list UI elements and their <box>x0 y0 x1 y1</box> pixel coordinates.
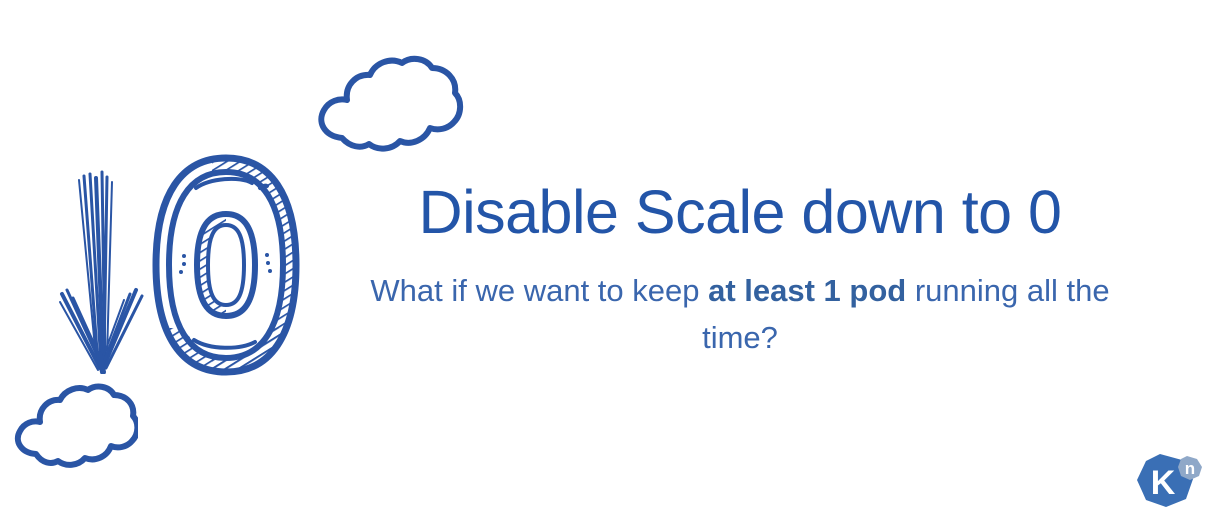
cloud-icon <box>312 52 464 156</box>
text-block: Disable Scale down to 0 What if we want … <box>360 178 1120 361</box>
subtitle-emphasis: at least 1 pod <box>708 273 906 308</box>
logo-letter: K <box>1151 464 1176 502</box>
cloud-icon <box>8 378 138 470</box>
page-title: Disable Scale down to 0 <box>360 178 1120 246</box>
logo-badge-letter: n <box>1185 459 1195 478</box>
arrow-down-icon <box>58 168 154 374</box>
subtitle: What if we want to keep at least 1 pod r… <box>360 268 1120 361</box>
knative-logo: K n <box>1130 450 1206 520</box>
subtitle-lead: What if we want to keep <box>370 273 708 308</box>
zero-digit-sketch <box>148 152 304 378</box>
slide-canvas: Disable Scale down to 0 What if we want … <box>0 0 1212 525</box>
